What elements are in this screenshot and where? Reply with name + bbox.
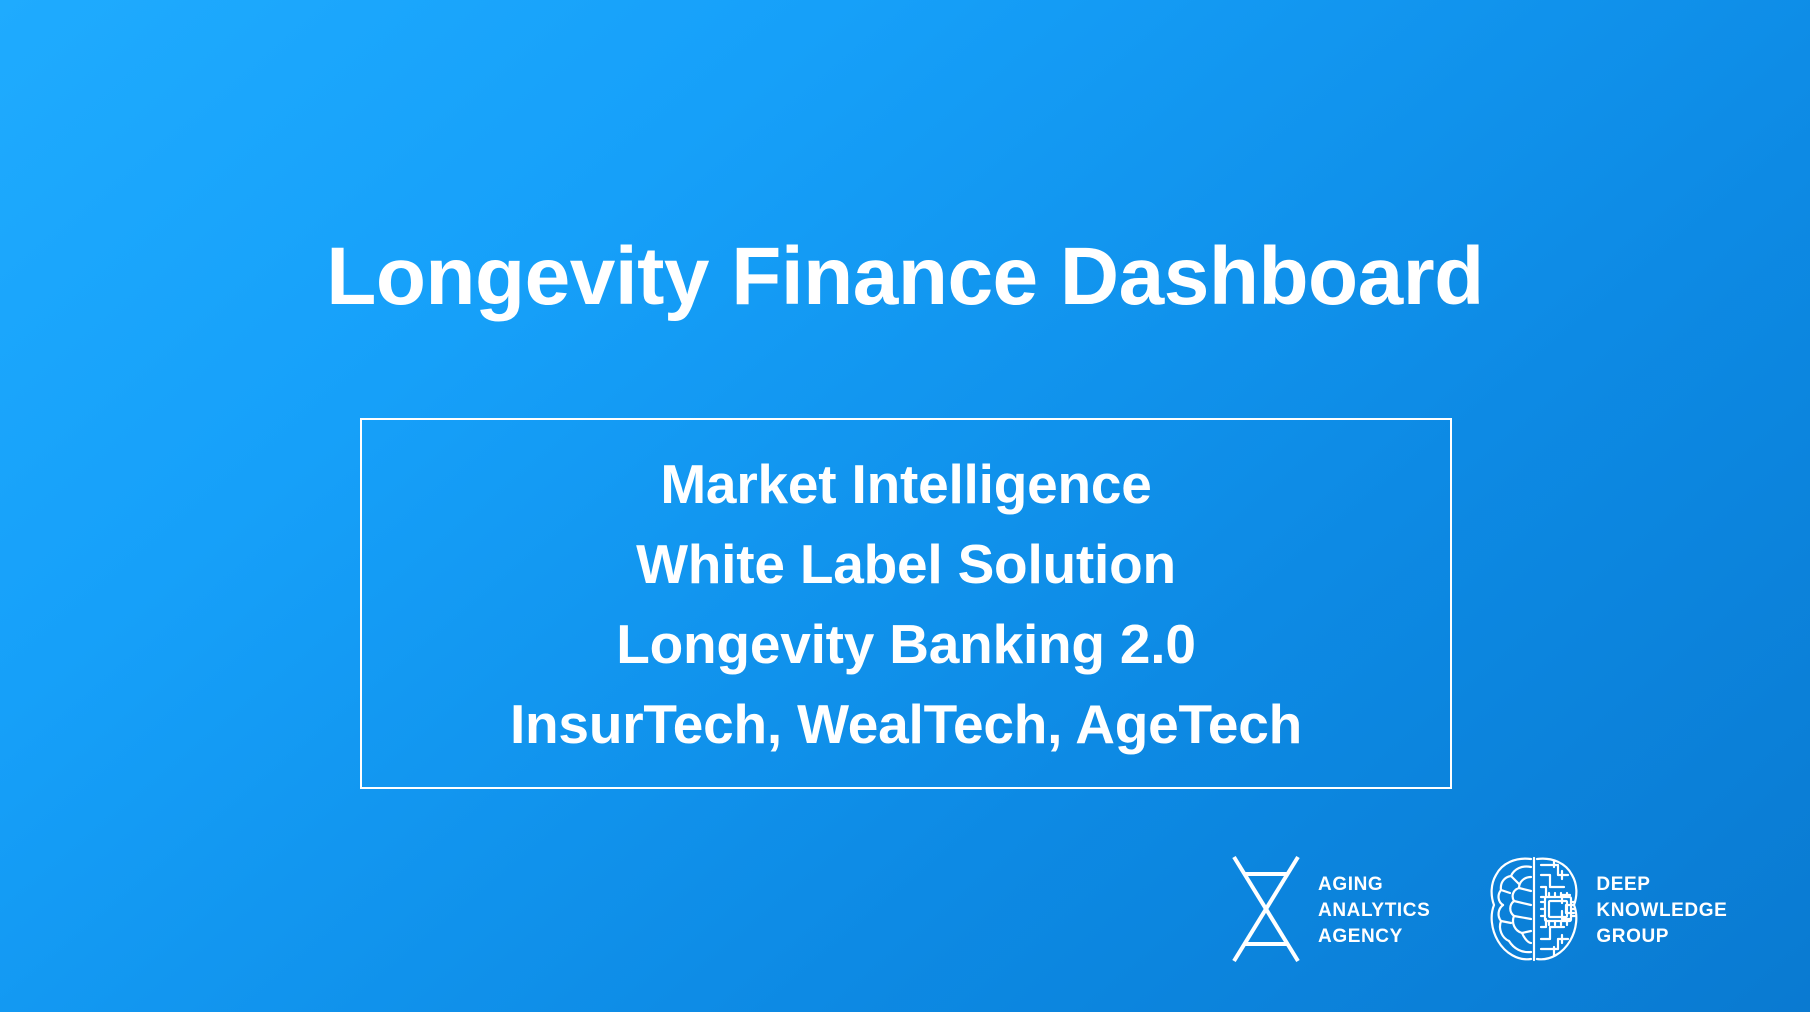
logo-row: AGING ANALYTICS AGENCY — [1228, 846, 1788, 976]
content-line-3: Longevity Banking 2.0 — [616, 604, 1196, 684]
logo-dkg-line-3: GROUP — [1596, 924, 1727, 950]
hourglass-icon — [1228, 853, 1304, 970]
brain-circuit-icon — [1486, 853, 1582, 970]
logo-deep-knowledge-group: DEEP KNOWLEDGE GROUP — [1486, 853, 1727, 970]
logo-dkg-line-1: DEEP — [1596, 872, 1727, 898]
logo-deep-knowledge-group-text: DEEP KNOWLEDGE GROUP — [1596, 872, 1727, 950]
slide-canvas: Longevity Finance Dashboard Market Intel… — [0, 0, 1810, 1012]
logo-aging-analytics-agency: AGING ANALYTICS AGENCY — [1228, 853, 1430, 970]
logo-dkg-line-2: KNOWLEDGE — [1596, 898, 1727, 924]
content-box: Market Intelligence White Label Solution… — [360, 418, 1452, 789]
logo-aaa-line-3: AGENCY — [1318, 924, 1430, 950]
logo-aaa-line-1: AGING — [1318, 872, 1430, 898]
content-line-4: InsurTech, WealTech, AgeTech — [510, 684, 1302, 764]
page-title: Longevity Finance Dashboard — [0, 236, 1810, 318]
content-line-2: White Label Solution — [636, 524, 1176, 604]
content-line-1: Market Intelligence — [660, 444, 1151, 524]
logo-aaa-line-2: ANALYTICS — [1318, 898, 1430, 924]
logo-aging-analytics-agency-text: AGING ANALYTICS AGENCY — [1318, 872, 1430, 950]
